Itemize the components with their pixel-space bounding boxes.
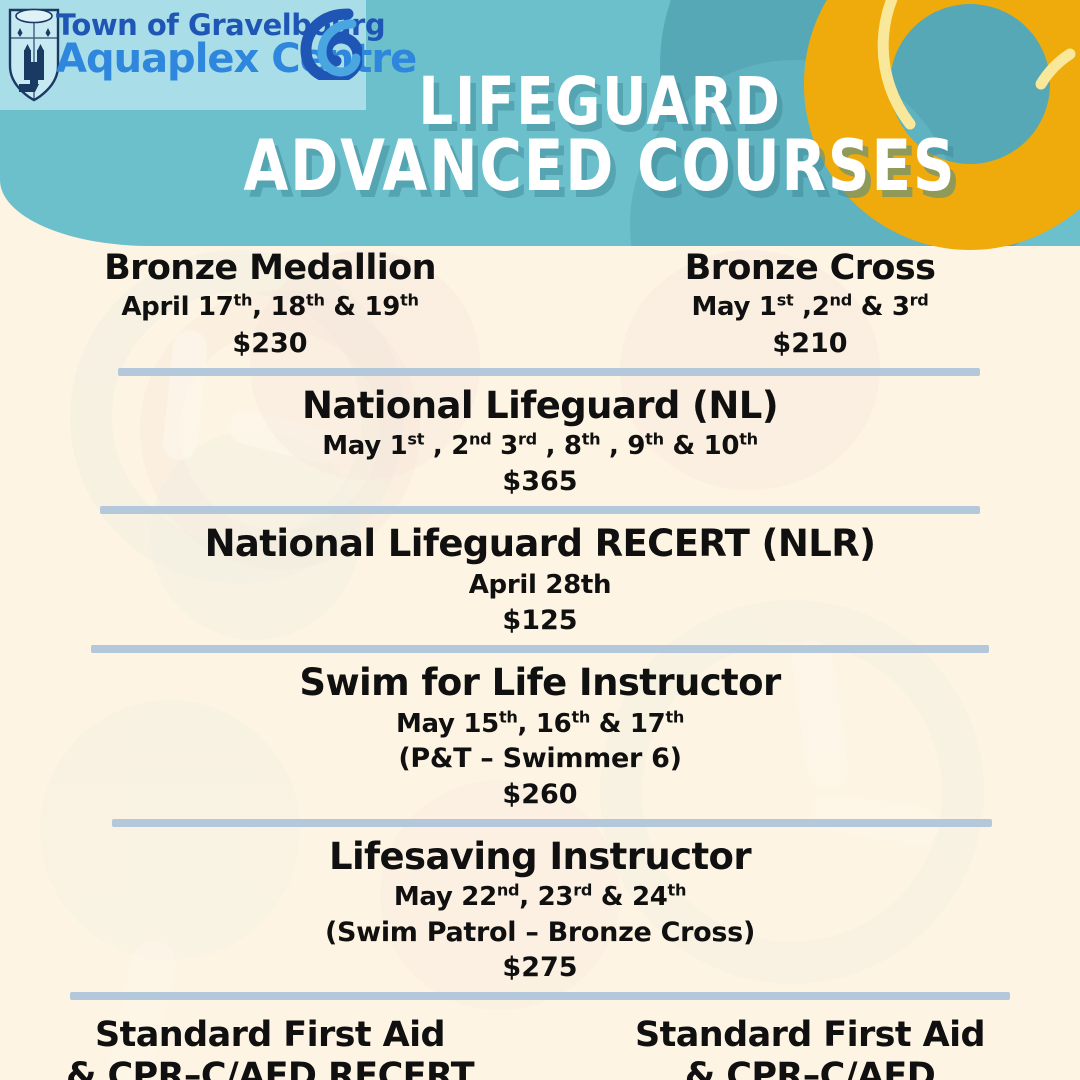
course-name-prefix: & CPR–C/AED <box>66 1056 328 1080</box>
course-price: $210 <box>540 328 1080 359</box>
course-row-first-aid: Standard First Aid & CPR–C/AED RECERT Ma… <box>0 1009 1080 1080</box>
course-name-recert-underlined: RECERT <box>328 1056 474 1080</box>
organization-name: Town of Gravelbourg Aquaplex Centre <box>56 12 416 79</box>
course-first-aid[interactable]: Standard First Aid & CPR–C/AED April 20t… <box>540 1015 1080 1080</box>
course-name: Swim for Life Instructor <box>0 662 1080 705</box>
course-name-line-2: & CPR–C/AED RECERT <box>0 1056 540 1080</box>
title-line-1: LIFEGUARD <box>158 72 1041 131</box>
course-price: $365 <box>0 466 1080 497</box>
course-national-lifeguard[interactable]: National Lifeguard (NL) May 1st , 2nd 3r… <box>0 385 1080 498</box>
course-date: May 22nd, 23rd & 24th <box>0 881 1080 914</box>
poster-canvas: Town of Gravelbourg Aquaplex Centre LIFE… <box>0 0 1080 1080</box>
course-name: National Lifeguard RECERT (NLR) <box>0 523 1080 566</box>
course-date: May 1st , 2nd 3rd , 8th , 9th & 10th <box>0 430 1080 463</box>
section-divider <box>100 506 980 514</box>
course-swim-for-life-instructor[interactable]: Swim for Life Instructor May 15th, 16th … <box>0 662 1080 810</box>
course-name: Bronze Cross <box>540 248 1080 288</box>
course-name-line-1: Standard First Aid <box>540 1015 1080 1055</box>
course-name: Bronze Medallion <box>0 248 540 288</box>
course-bronze-cross[interactable]: Bronze Cross May 1st ,2nd & 3rd $210 <box>540 248 1080 359</box>
course-price: $260 <box>0 779 1080 810</box>
course-subtitle: (Swim Patrol – Bronze Cross) <box>0 916 1080 950</box>
course-bronze-medallion[interactable]: Bronze Medallion April 17th, 18th & 19th… <box>0 248 540 359</box>
course-price: $125 <box>0 605 1080 636</box>
course-date: May 1st ,2nd & 3rd <box>540 291 1080 324</box>
course-row-bronze: Bronze Medallion April 17th, 18th & 19th… <box>0 248 1080 359</box>
title-line-2: ADVANCED COURSES <box>158 135 1041 198</box>
course-date: April 17th, 18th & 19th <box>0 291 540 324</box>
course-subtitle: (P&T – Swimmer 6) <box>0 742 1080 776</box>
course-name: National Lifeguard (NL) <box>0 385 1080 428</box>
course-price: $230 <box>0 328 540 359</box>
section-divider <box>118 368 980 376</box>
course-name: Lifesaving Instructor <box>0 836 1080 879</box>
course-name-line-2: & CPR–C/AED <box>540 1056 1080 1080</box>
course-list: Bronze Medallion April 17th, 18th & 19th… <box>0 248 1080 1080</box>
course-first-aid-recert[interactable]: Standard First Aid & CPR–C/AED RECERT Ma… <box>0 1015 540 1080</box>
section-divider <box>112 819 992 827</box>
course-national-lifeguard-recert[interactable]: National Lifeguard RECERT (NLR) April 28… <box>0 523 1080 636</box>
poster-title: LIFEGUARD ADVANCED COURSES <box>0 72 1080 198</box>
course-name-line-1: Standard First Aid <box>0 1015 540 1055</box>
water-swirl-logo-icon <box>300 8 362 80</box>
org-line-1: Town of Gravelbourg <box>56 12 416 39</box>
course-name-prefix: & CPR–C/AED <box>685 1056 935 1080</box>
course-date: April 28th <box>0 569 1080 602</box>
section-divider <box>91 645 989 653</box>
course-lifesaving-instructor[interactable]: Lifesaving Instructor May 22nd, 23rd & 2… <box>0 836 1080 984</box>
course-date: May 15th, 16th & 17th <box>0 708 1080 741</box>
section-divider <box>70 992 1010 1000</box>
course-price: $275 <box>0 952 1080 983</box>
